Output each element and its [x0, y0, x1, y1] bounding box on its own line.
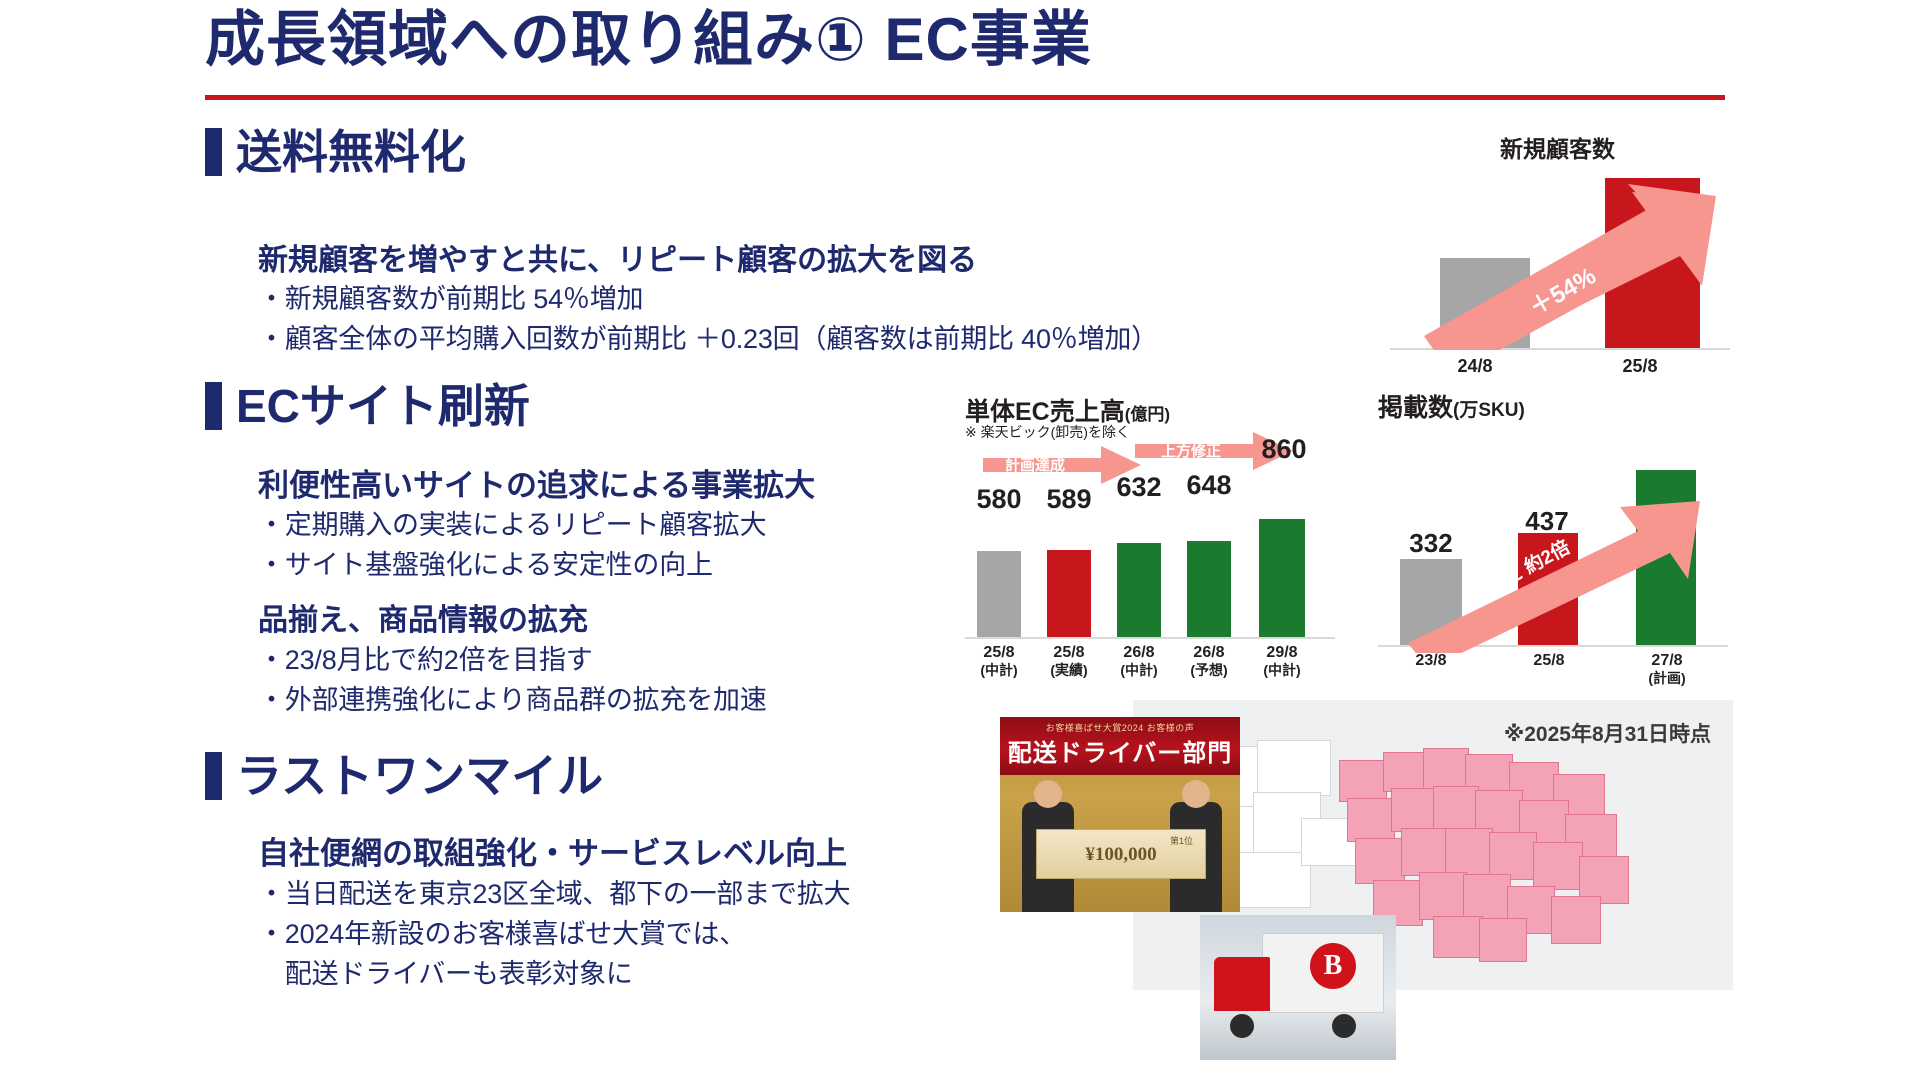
- section-3-bullet-1: ・2024年新設のお客様喜ばせ大賞では、: [258, 912, 746, 951]
- map-region-covered-7: [1347, 798, 1395, 842]
- xlabel-ec-4: 29/8 (中計): [1248, 644, 1316, 681]
- map-region-covered-21: [1463, 874, 1511, 922]
- section-heading-last-one-mile: ラストワンマイル: [205, 752, 603, 800]
- map-region-west-2: [1257, 740, 1331, 796]
- chart-ec-sales-title-unit: (億円): [1125, 405, 1170, 424]
- map-region-covered-16: [1489, 832, 1537, 880]
- award-banner: お客様喜ばせ大賞2024 お客様の声 配送ドライバー部門: [1000, 717, 1240, 775]
- section-3-subhead: 自社便網の取組強化・サービスレベル向上: [258, 828, 847, 873]
- map-region-covered-3: [1423, 748, 1469, 790]
- xlabel-ec-3-sub: (予想): [1190, 662, 1227, 678]
- section-accent-bar: [205, 382, 222, 430]
- xlabel-ec-3-main: 26/8: [1193, 644, 1224, 661]
- section-1-bullet-0: ・新規顧客数が前期比 54％増加: [258, 277, 643, 316]
- xlabel-sku-2-sub: (計画): [1648, 670, 1685, 686]
- xlabel-ec-1-sub: (実績): [1050, 662, 1087, 678]
- xlabel-ec-4-main: 29/8: [1266, 644, 1297, 661]
- award-person-left-head: [1034, 780, 1062, 808]
- bar-ec-4: [1259, 519, 1305, 637]
- map-region-covered-17: [1533, 842, 1583, 890]
- map-region-covered-2: [1383, 752, 1427, 792]
- xlabel-ec-2: 26/8 (中計): [1105, 644, 1173, 681]
- map-note-label: ※2025年8月31日時点: [1504, 718, 1711, 748]
- section-2-bullet-2: ・23/8月比で約2倍を目指す: [258, 638, 593, 677]
- value-label-2: 632: [1108, 472, 1170, 503]
- bar-ec-1: [1047, 550, 1091, 637]
- award-check-amount-label: ¥100,000: [1037, 844, 1205, 866]
- map-region-covered-15: [1445, 828, 1493, 876]
- chart-new-customers: 新規顧客数 ＋54% 24/8 25/8: [1380, 130, 1740, 370]
- section-accent-bar: [205, 752, 222, 800]
- xlabel-sku-0: 23/8: [1386, 652, 1476, 670]
- truck-logo: B: [1310, 943, 1356, 989]
- xlabel-24-8: 24/8: [1415, 356, 1535, 377]
- title-underline: [205, 95, 1725, 100]
- xlabel-ec-2-main: 26/8: [1123, 644, 1154, 661]
- section-1-subhead: 新規顧客を増やすと共に、リピート顧客の拡大を図る: [258, 235, 977, 279]
- section-2-subhead-2: 品揃え、商品情報の拡充: [258, 595, 588, 639]
- truck-wheel-front: [1230, 1014, 1254, 1038]
- xlabel-sku-2-main: 27/8: [1651, 652, 1682, 669]
- chart-sku-count-title: 掲載数(万SKU): [1378, 388, 1525, 424]
- page-title-text: 成長領域への取り組み① EC事業: [205, 8, 1725, 71]
- award-ceremony-photo: お客様喜ばせ大賞2024 お客様の声 配送ドライバー部門 第1位 ¥100,00…: [1000, 717, 1240, 912]
- award-check-board: 第1位 ¥100,000: [1036, 829, 1206, 879]
- map-region-covered-14: [1401, 828, 1449, 876]
- section-accent-bar: [205, 128, 222, 176]
- xlabel-ec-0: 25/8 (中計): [965, 644, 1033, 681]
- xlabel-ec-1-main: 25/8: [1053, 644, 1084, 661]
- xlabel-25-8: 25/8: [1580, 356, 1700, 377]
- truck-cab: [1214, 957, 1270, 1011]
- award-banner-title: 配送ドライバー部門: [1000, 733, 1240, 768]
- xlabel-ec-1: 25/8 (実績): [1035, 644, 1103, 681]
- value-label-1: 589: [1038, 484, 1100, 515]
- chart-ec-sales-axis: [965, 637, 1335, 639]
- section-title-label: 送料無料化: [236, 129, 466, 175]
- chart-sku-count-title-unit: (万SKU): [1453, 400, 1525, 421]
- value-label-4: 860: [1250, 434, 1318, 465]
- map-region-covered-24: [1433, 916, 1483, 958]
- delivery-truck-photo: B: [1200, 915, 1396, 1060]
- map-region-covered-20: [1419, 872, 1467, 920]
- section-title-label: ECサイト刷新: [236, 383, 530, 429]
- value-label-3: 648: [1178, 470, 1240, 501]
- chart-ec-sales: 単体EC売上高(億円) ※ 楽天ビック(卸売)を除く 計画達成 上方修正 580…: [965, 392, 1345, 692]
- xlabel-ec-3: 26/8 (予想): [1175, 644, 1243, 681]
- map-region-covered-1: [1339, 760, 1387, 802]
- xlabel-ec-0-main: 25/8: [983, 644, 1014, 661]
- section-3-bullet-0: ・当日配送を東京23区全域、都下の一部まで拡大: [258, 872, 850, 911]
- page-title: 成長領域への取り組み① EC事業: [205, 8, 1725, 71]
- chart-new-customers-title: 新規顧客数: [1500, 130, 1615, 164]
- chart-ec-sales-annotation-1: 上方修正: [1161, 440, 1221, 461]
- award-person-right-head: [1182, 780, 1210, 808]
- map-region-covered-8: [1391, 788, 1437, 832]
- bar-ec-3: [1187, 541, 1231, 637]
- section-2-bullet-1: ・サイト基盤強化による安定性の向上: [258, 543, 713, 582]
- chart-sku-count: 掲載数(万SKU) 332 437 品揃え 約2倍 23/8 25/8 27/8…: [1378, 388, 1738, 688]
- map-region-covered-23: [1551, 896, 1601, 944]
- xlabel-ec-2-sub: (中計): [1120, 662, 1157, 678]
- map-region-covered-9: [1433, 786, 1479, 832]
- chart-ec-sales-note: ※ 楽天ビック(卸売)を除く: [965, 422, 1130, 442]
- section-heading-shipping-free: 送料無料化: [205, 128, 466, 176]
- section-3-bullet-2: 配送ドライバーも表彰対象に: [258, 952, 633, 991]
- value-label-0: 580: [968, 484, 1030, 515]
- section-heading-ec-renewal: ECサイト刷新: [205, 382, 530, 430]
- xlabel-ec-0-sub: (中計): [980, 662, 1017, 678]
- section-1-bullet-1: ・顧客全体の平均購入回数が前期比 ＋0.23回（顧客数は前期比 40％増加）: [258, 317, 1158, 356]
- map-region-covered-13: [1355, 838, 1405, 884]
- bar-ec-2: [1117, 543, 1161, 637]
- section-2-bullet-0: ・定期購入の実装によるリピート顧客拡大: [258, 503, 766, 542]
- assortment-arrow-icon: [1388, 483, 1728, 653]
- truck-wheel-rear: [1332, 1014, 1356, 1038]
- growth-arrow-icon: [1380, 160, 1740, 350]
- xlabel-sku-1: 25/8: [1504, 652, 1594, 670]
- xlabel-ec-4-sub: (中計): [1263, 662, 1300, 678]
- chart-sku-count-title-text: 掲載数: [1378, 394, 1453, 422]
- xlabel-sku-2: 27/8 (計画): [1622, 652, 1712, 689]
- section-2-subhead: 利便性高いサイトの追求による事業拡大: [258, 460, 815, 505]
- section-title-label: ラストワンマイル: [236, 753, 603, 799]
- bar-ec-0: [977, 551, 1021, 637]
- map-region-covered-25: [1479, 918, 1527, 962]
- chart-ec-sales-annotation-0: 計画達成: [1005, 454, 1065, 475]
- section-2-bullet-3: ・外部連携強化により商品群の拡充を加速: [258, 678, 767, 717]
